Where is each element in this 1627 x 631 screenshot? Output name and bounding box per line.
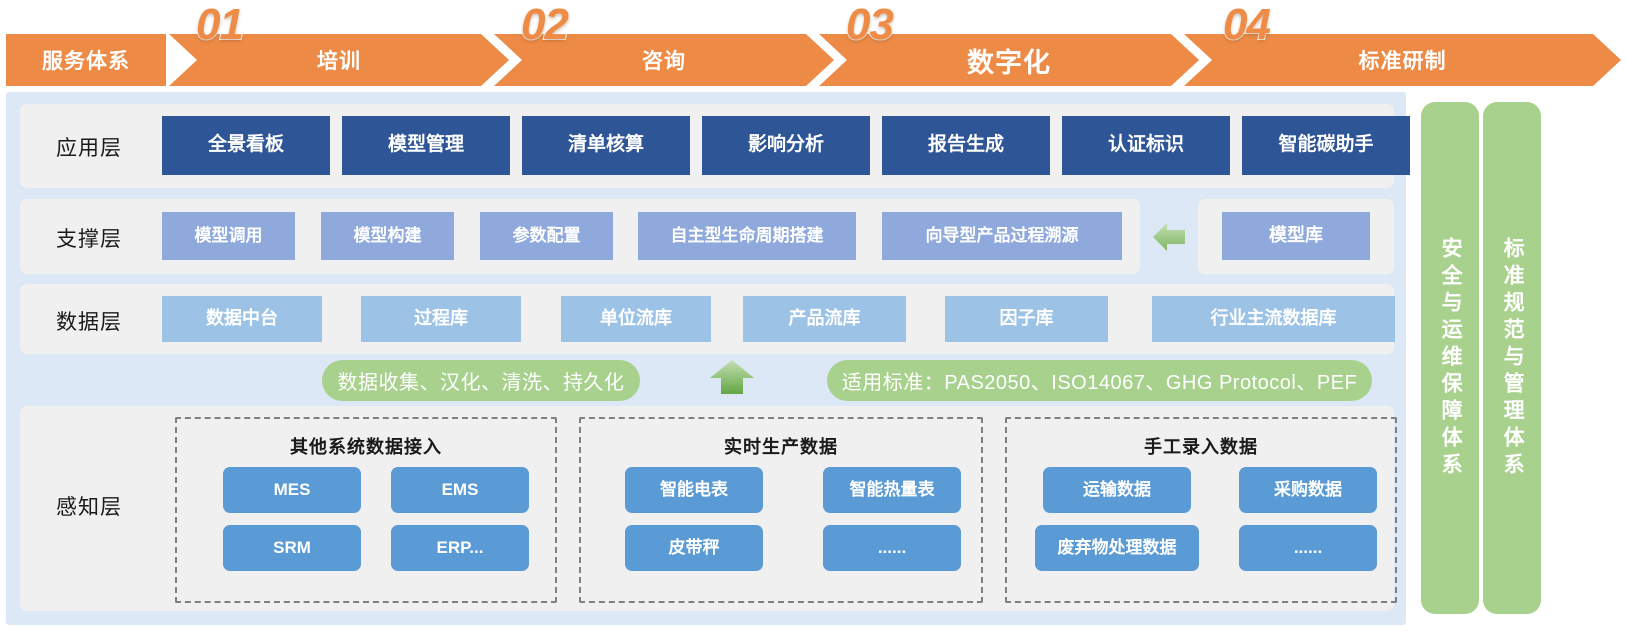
diagram-canvas: 服务体系 培训 咨询 数字化 标准研制 01 02 03 04 应用层 全景看板… [0,0,1627,631]
step-number-02: 02 [521,0,568,50]
perception-group-2-title: 实时生产数据 [581,433,981,459]
perception-g2-item-2[interactable]: 智能热量表 [823,467,961,513]
data-item-2[interactable]: 过程库 [361,296,521,342]
data-item-4[interactable]: 产品流库 [743,296,906,342]
perception-g3-item-2[interactable]: 采购数据 [1239,467,1377,513]
perception-g3-item-3[interactable]: 废弃物处理数据 [1035,525,1199,571]
perception-group-3-title: 手工录入数据 [1007,433,1395,459]
support-item-5[interactable]: 向导型产品过程溯源 [882,212,1122,260]
perception-group-2: 实时生产数据 智能电表 智能热量表 皮带秤 ...... [579,417,983,603]
application-layer-row: 应用层 全景看板 模型管理 清单核算 影响分析 报告生成 认证标识 智能碳助手 [20,104,1394,188]
app-item-4[interactable]: 影响分析 [702,116,870,175]
support-item-1[interactable]: 模型调用 [162,212,295,260]
support-side-item-1[interactable]: 模型库 [1222,212,1370,260]
process-ribbon: 服务体系 培训 咨询 数字化 标准研制 [0,34,1627,86]
perception-g1-item-4[interactable]: ERP... [391,525,529,571]
perception-g3-item-1[interactable]: 运输数据 [1043,467,1191,513]
side-panel-standards[interactable]: 标准规范与管理体系 [1483,102,1541,614]
perception-g1-item-3[interactable]: SRM [223,525,361,571]
perception-group-3: 手工录入数据 运输数据 采购数据 废弃物处理数据 ...... [1005,417,1397,603]
data-layer-label: 数据层 [56,306,122,336]
step-number-01: 01 [196,0,243,50]
standards-pill: 适用标准：PAS2050、ISO14067、GHG Protocol、PEF [827,360,1372,401]
step-number-04: 04 [1223,0,1270,50]
side-panel-security-label: 安全与运维保障体系 [1437,237,1463,480]
data-layer-row: 数据层 数据中台 过程库 单位流库 产品流库 因子库 行业主流数据库 [20,284,1394,354]
arrow-left-icon [1151,217,1191,257]
perception-group-1-title: 其他系统数据接入 [177,433,555,459]
perception-group-1: 其他系统数据接入 MES EMS SRM ERP... [175,417,557,603]
ribbon-step-2-label: 咨询 [642,45,686,75]
arrow-up-icon [709,358,755,396]
side-panel-security[interactable]: 安全与运维保障体系 [1421,102,1479,614]
support-item-4[interactable]: 自主型生命周期搭建 [638,212,856,260]
data-item-6[interactable]: 行业主流数据库 [1152,296,1395,342]
perception-g1-item-1[interactable]: MES [223,467,361,513]
app-item-3[interactable]: 清单核算 [522,116,690,175]
perception-g1-item-2[interactable]: EMS [391,467,529,513]
app-item-1[interactable]: 全景看板 [162,116,330,175]
data-item-3[interactable]: 单位流库 [561,296,711,342]
perception-g2-item-4[interactable]: ...... [823,525,961,571]
model-library-row: 模型库 [1198,199,1394,274]
support-item-2[interactable]: 模型构建 [321,212,454,260]
data-item-5[interactable]: 因子库 [945,296,1108,342]
support-item-3[interactable]: 参数配置 [480,212,613,260]
perception-g3-item-4[interactable]: ...... [1239,525,1377,571]
app-item-6[interactable]: 认证标识 [1062,116,1230,175]
support-layer-label: 支撑层 [56,223,122,253]
app-item-7[interactable]: 智能碳助手 [1242,116,1410,175]
application-layer-label: 应用层 [56,132,122,162]
perception-g2-item-3[interactable]: 皮带秤 [625,525,763,571]
ribbon-step-3-label: 数字化 [967,41,1051,80]
ribbon-step-1-label: 培训 [317,45,361,75]
support-layer-row: 支撑层 模型调用 模型构建 参数配置 自主型生命周期搭建 向导型产品过程溯源 [20,199,1140,274]
step-number-03: 03 [846,0,893,50]
app-item-2[interactable]: 模型管理 [342,116,510,175]
perception-layer-label: 感知层 [56,491,122,521]
platform-architecture-panel: 应用层 全景看板 模型管理 清单核算 影响分析 报告生成 认证标识 智能碳助手 … [6,92,1406,625]
side-panel-standards-label: 标准规范与管理体系 [1499,237,1525,480]
ribbon-title-segment[interactable]: 服务体系 [6,34,166,86]
data-process-pill: 数据收集、汉化、清洗、持久化 [322,360,640,401]
ribbon-title-label: 服务体系 [42,45,130,75]
data-item-1[interactable]: 数据中台 [162,296,322,342]
perception-layer-row: 感知层 其他系统数据接入 MES EMS SRM ERP... 实时生产数据 智… [20,406,1394,611]
app-item-5[interactable]: 报告生成 [882,116,1050,175]
perception-g2-item-1[interactable]: 智能电表 [625,467,763,513]
ribbon-step-4-label: 标准研制 [1359,45,1447,75]
